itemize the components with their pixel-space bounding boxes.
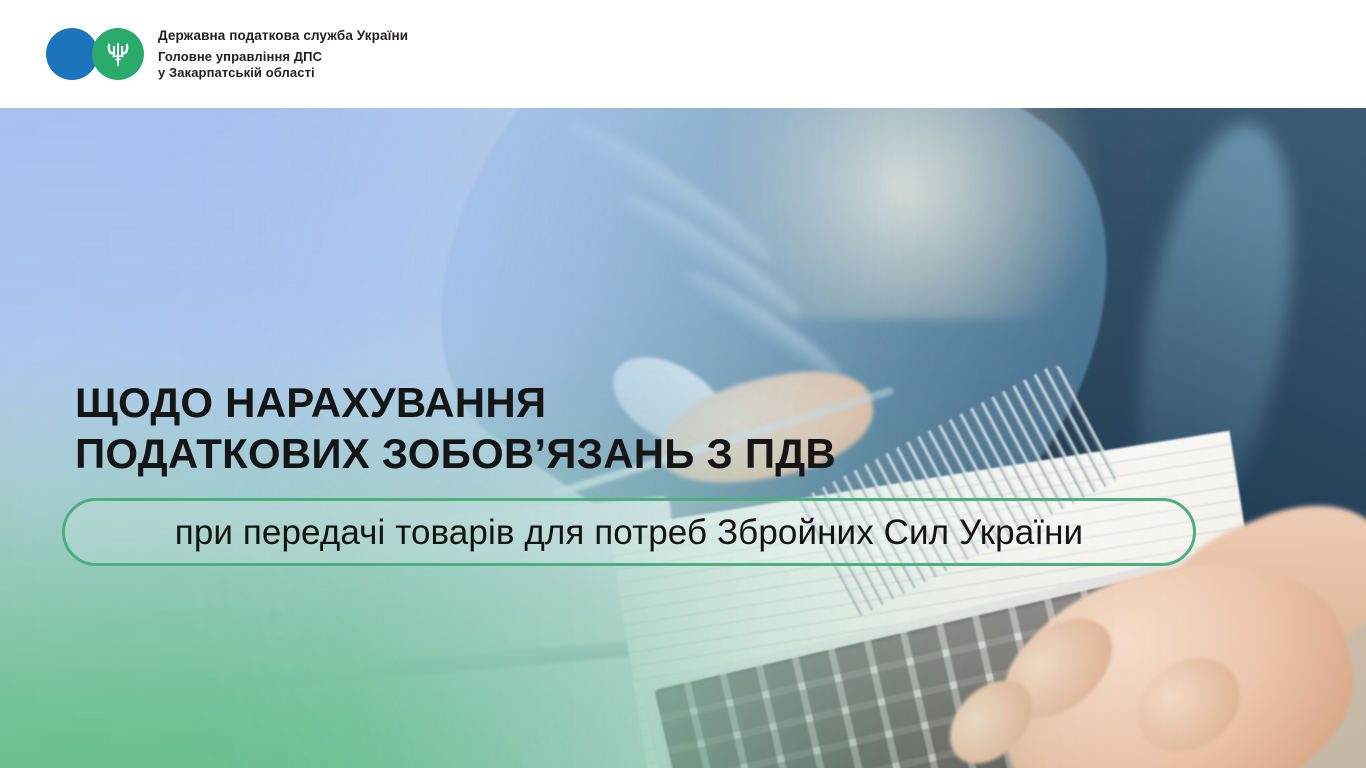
ukraine-trident-icon: [106, 40, 130, 68]
org-name-regional-2: у Закарпатській області: [158, 66, 408, 79]
sun-flare: [656, 108, 1148, 319]
page-title: ЩОДО НАРАХУВАННЯ ПОДАТКОВИХ ЗОБОВ’ЯЗАНЬ …: [75, 377, 836, 479]
header-bar: Державна податкова служба України Головн…: [0, 0, 1366, 108]
subtitle-pill: при передачі товарів для потреб Збройних…: [62, 498, 1196, 566]
org-name-national: Державна податкова служба України: [158, 29, 408, 43]
headline-line-1: ЩОДО НАРАХУВАННЯ: [75, 377, 836, 428]
tax-service-banner: Державна податкова служба України Головн…: [0, 0, 1366, 768]
subtitle-text: при передачі товарів для потреб Збройних…: [175, 515, 1083, 550]
logo-text-block: Державна податкова служба України Головн…: [158, 29, 408, 79]
logo-marks: [46, 28, 144, 80]
headline-line-2: ПОДАТКОВИХ ЗОБОВ’ЯЗАНЬ З ПДВ: [75, 428, 836, 479]
logo-blue-circle-icon: [46, 28, 98, 80]
logo-green-circle-icon: [92, 28, 144, 80]
logo-block[interactable]: Державна податкова служба України Головн…: [46, 28, 408, 80]
org-name-regional-1: Головне управління ДПС: [158, 50, 408, 63]
